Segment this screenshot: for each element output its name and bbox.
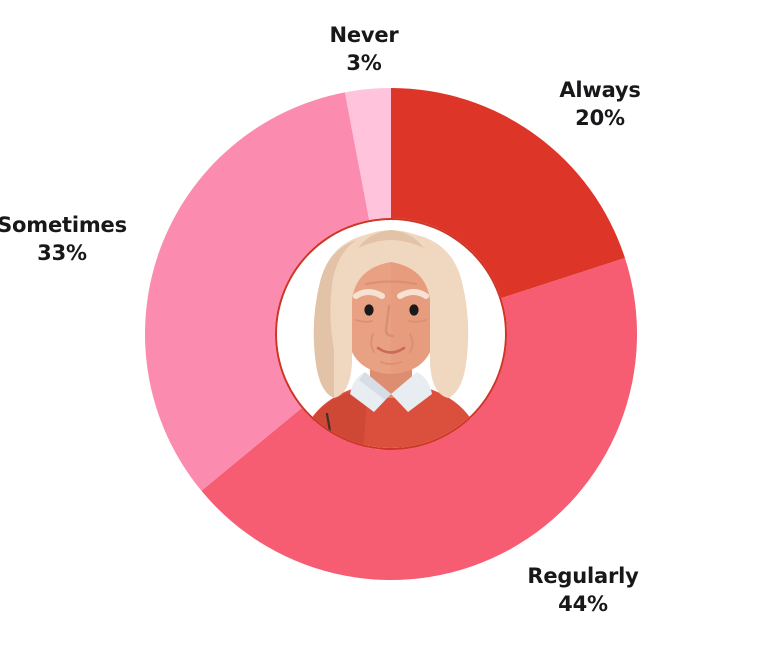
avatar-eye-right <box>409 304 418 315</box>
slice-value-regularly: 44% <box>558 592 608 616</box>
slice-label-regularly: Regularly <box>527 564 639 588</box>
slice-value-never: 3% <box>346 51 381 75</box>
avatar-eye-left <box>364 304 373 315</box>
slice-label-never: Never <box>329 23 399 47</box>
slice-label-always: Always <box>559 78 640 102</box>
donut-chart-figure: Always 20% Regularly 44% Sometimes 33% N… <box>0 0 768 662</box>
slice-value-sometimes: 33% <box>37 241 87 265</box>
slice-value-always: 20% <box>575 106 625 130</box>
donut-chart-svg: Always 20% Regularly 44% Sometimes 33% N… <box>0 0 768 662</box>
slice-label-sometimes: Sometimes <box>0 213 127 237</box>
